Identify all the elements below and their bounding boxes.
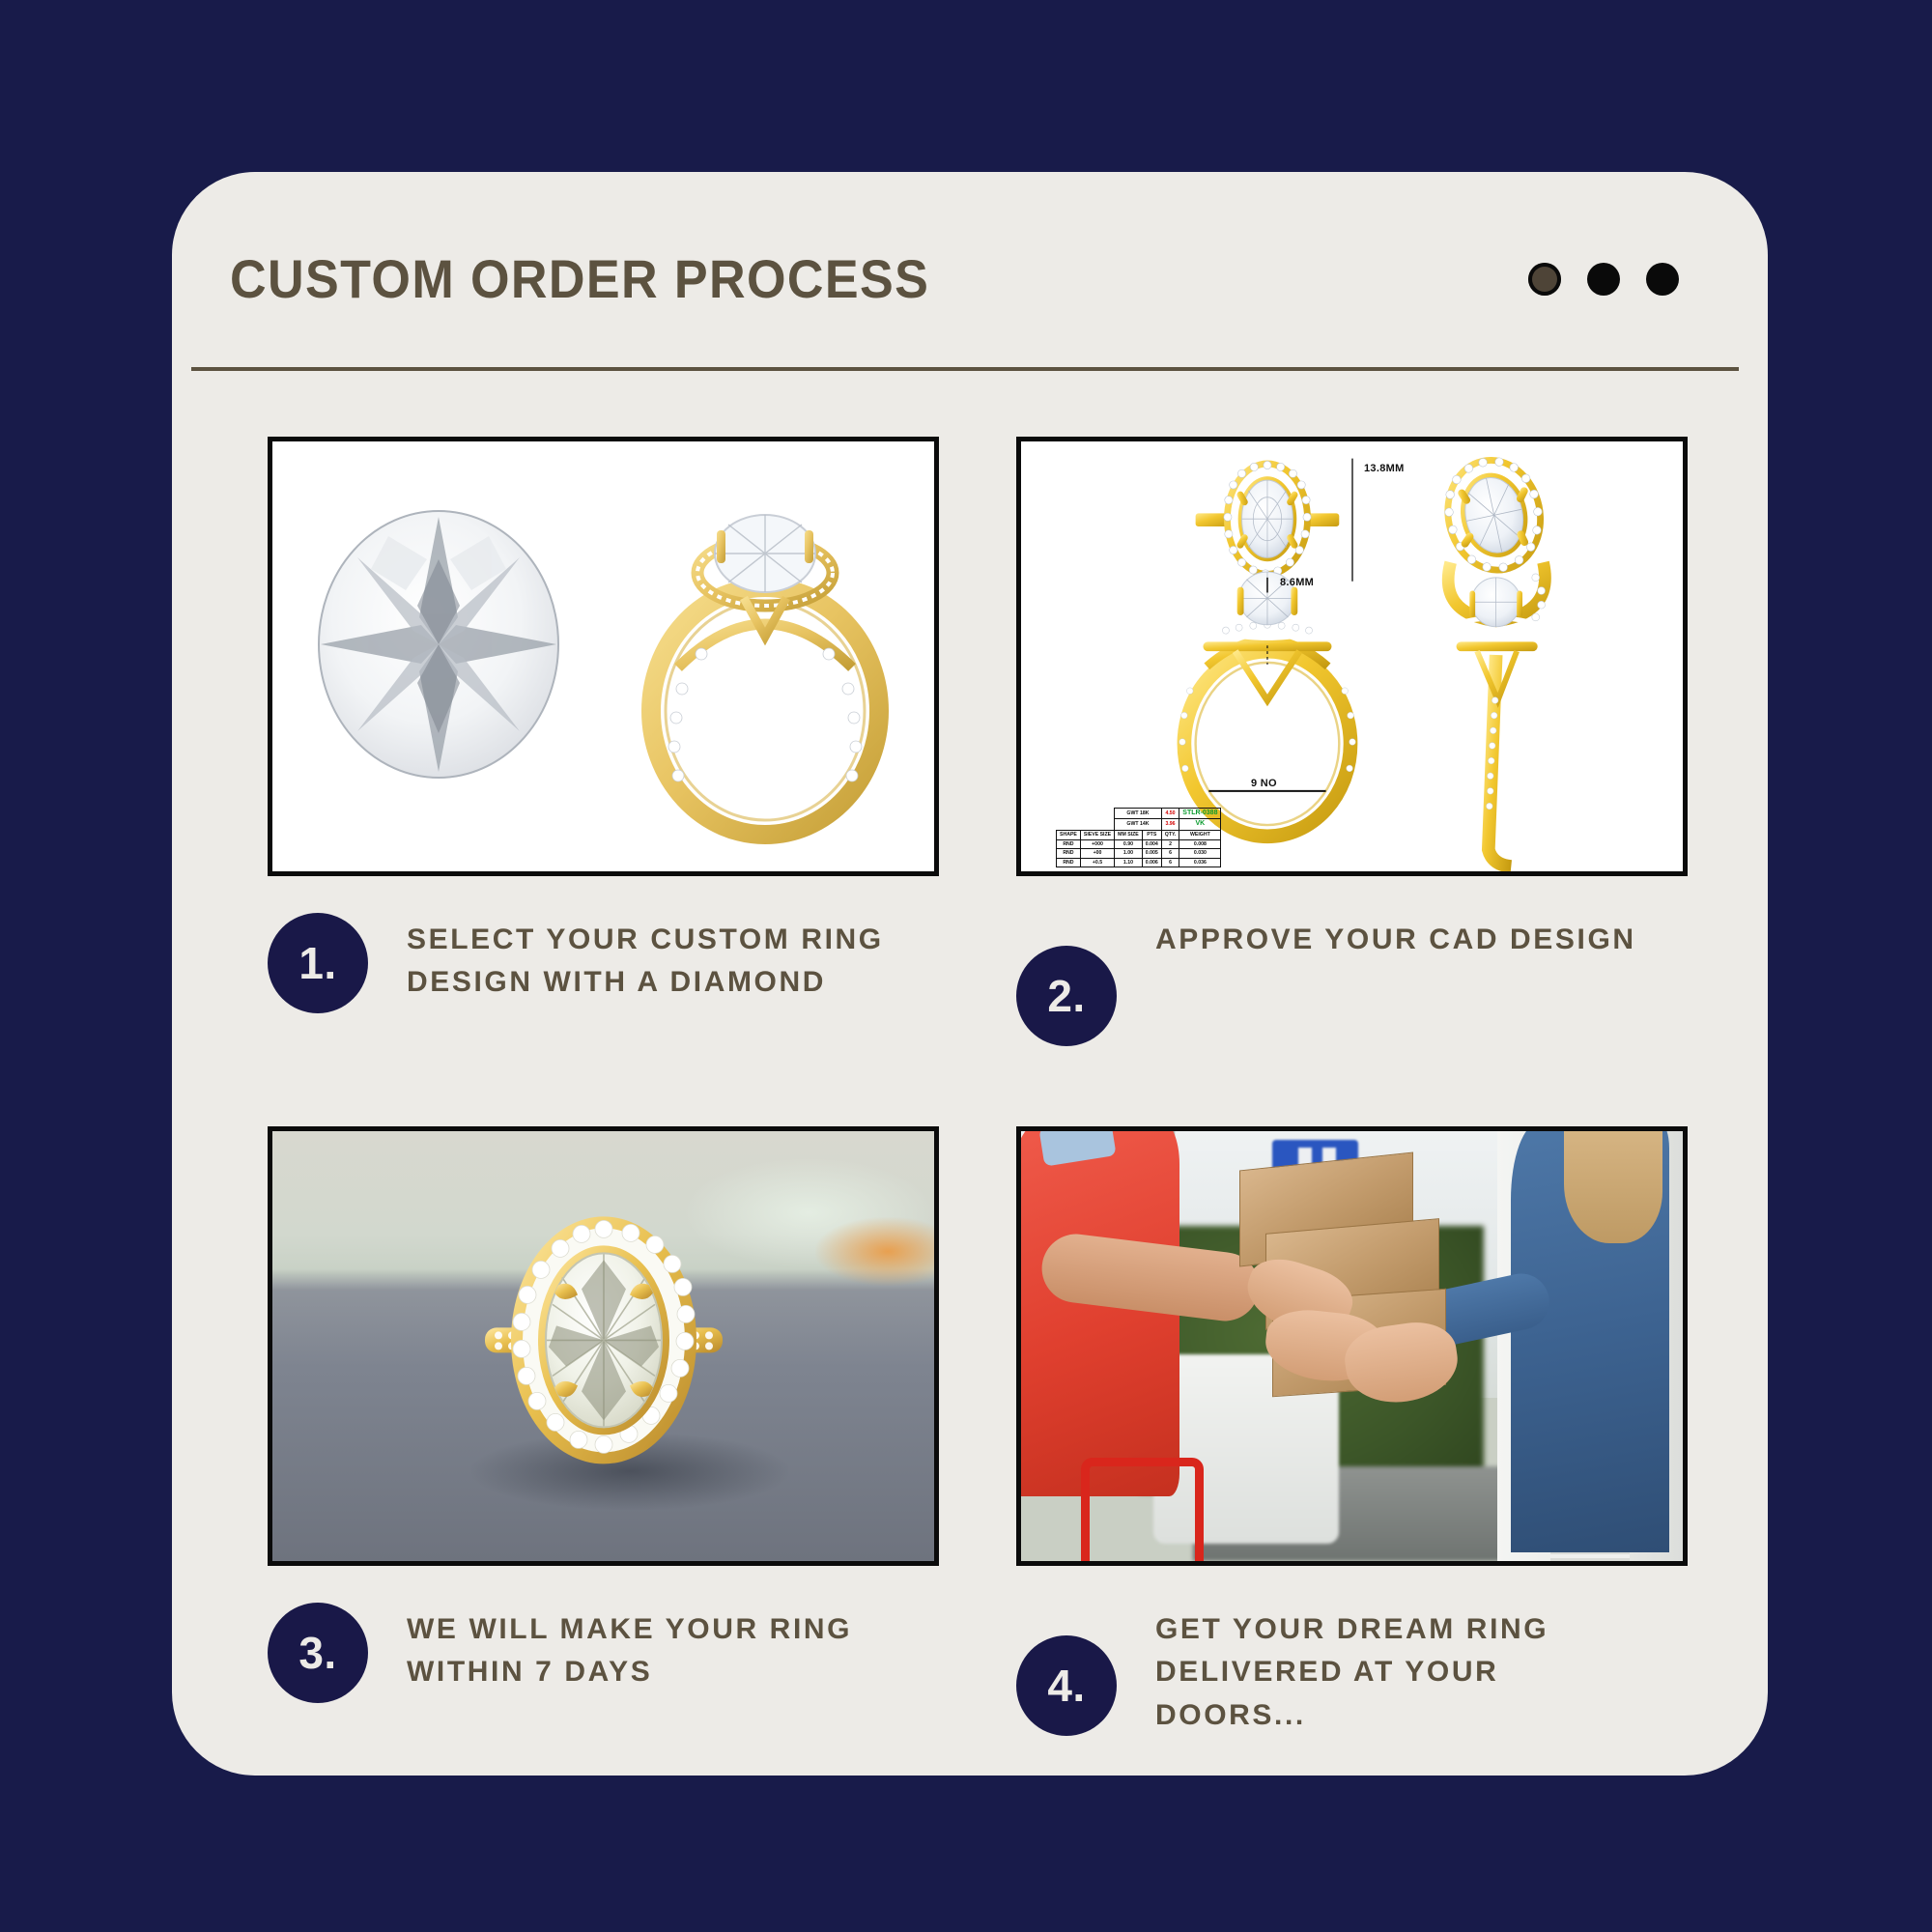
steps-grid: 1. SELECT YOUR CUSTOM RING DESIGN WITH A…	[268, 437, 1688, 1737]
courier-person	[1021, 1131, 1179, 1496]
cad-ring-size-label: 9 NO	[1251, 778, 1277, 789]
step-4-caption: 4. GET YOUR DREAM RING DELIVERED AT YOUR…	[1016, 1603, 1688, 1737]
step-3-text: WE WILL MAKE YOUR RING WITHIN 7 DAYS	[407, 1603, 939, 1694]
col-qty: QTY.	[1161, 831, 1179, 840]
step-card-1: 1. SELECT YOUR CUSTOM RING DESIGN WITH A…	[268, 437, 939, 1046]
table-row: GWT 14K 3.96 VK	[1057, 819, 1221, 831]
step-4-text: GET YOUR DREAM RING DELIVERED AT YOUR DO…	[1155, 1603, 1658, 1737]
gold-halo-ring-icon	[620, 465, 910, 851]
cell-sieve: +00	[1080, 849, 1114, 859]
gwt-18k-value: 4.50	[1161, 808, 1179, 819]
cad-spec-table: GWT 18K 4.50 STLR-0388 GWT 14K 3.96 VK	[1056, 808, 1221, 868]
cell-pts: 0.005	[1142, 849, 1161, 859]
page-title: CUSTOM ORDER PROCESS	[230, 247, 929, 310]
col-weight: WEIGHT	[1179, 831, 1221, 840]
cell-mm: 1.00	[1115, 849, 1143, 859]
gwt-18k-label: GWT 18K	[1115, 808, 1162, 819]
table-row: RND +000 0.90 0.004 2 0.008	[1057, 839, 1221, 849]
steps-row-bottom: 3. WE WILL MAKE YOUR RING WITHIN 7 DAYS	[268, 1126, 1688, 1737]
window-dot-black-2-icon[interactable]	[1646, 263, 1679, 296]
customer-hair	[1564, 1131, 1663, 1243]
window-dot-black-1-icon[interactable]	[1587, 263, 1620, 296]
cad-dim-height-label: 8.6MM	[1280, 577, 1314, 588]
step-3-number: 3.	[268, 1603, 368, 1703]
step-card-3: 3. WE WILL MAKE YOUR RING WITHIN 7 DAYS	[268, 1126, 939, 1737]
cell-weight: 0.036	[1179, 858, 1221, 867]
cell-qty: 6	[1161, 858, 1179, 867]
gwt-14k-value: 3.96	[1161, 819, 1179, 831]
step-1-number: 1.	[268, 913, 368, 1013]
step-2-caption: 2. APPROVE YOUR CAD DESIGN	[1016, 913, 1688, 1046]
hand-truck	[1081, 1458, 1205, 1561]
cell-shape: RND	[1057, 839, 1081, 849]
steps-row-top: 1. SELECT YOUR CUSTOM RING DESIGN WITH A…	[268, 437, 1688, 1046]
package-delivery-photo-image	[1021, 1131, 1683, 1561]
delivery-scene	[1021, 1131, 1683, 1561]
round-diamond-icon	[313, 501, 564, 781]
process-card: CUSTOM ORDER PROCESS	[172, 172, 1768, 1776]
cell-sieve: +0.5	[1080, 858, 1114, 867]
step-2-text: APPROVE YOUR CAD DESIGN	[1155, 913, 1636, 961]
step-card-4: 4. GET YOUR DREAM RING DELIVERED AT YOUR…	[1016, 1126, 1688, 1737]
step-1-caption: 1. SELECT YOUR CUSTOM RING DESIGN WITH A…	[268, 913, 939, 1013]
table-header-row: SHAPE SIEVE SIZE MM SIZE PTS QTY. WEIGHT	[1057, 831, 1221, 840]
step-1-text: SELECT YOUR CUSTOM RING DESIGN WITH A DI…	[407, 913, 909, 1005]
cad-dim-width-label: 13.8MM	[1364, 463, 1405, 474]
col-sieve-size: SIEVE SIZE	[1080, 831, 1114, 840]
table-row: GWT 18K 4.50 STLR-0388	[1057, 808, 1221, 819]
finished-halo-ring-icon	[473, 1180, 734, 1499]
cell-weight: 0.030	[1179, 849, 1221, 859]
step-2-number: 2.	[1016, 946, 1117, 1046]
cell-qty: 6	[1161, 849, 1179, 859]
col-mm-size: MM SIZE	[1115, 831, 1143, 840]
step-3-caption: 3. WE WILL MAKE YOUR RING WITHIN 7 DAYS	[268, 1603, 939, 1703]
step-4-number: 4.	[1016, 1635, 1117, 1736]
step-4-image-frame	[1016, 1126, 1688, 1566]
cell-pts: 0.004	[1142, 839, 1161, 849]
table-row: RND +00 1.00 0.005 6 0.030	[1057, 849, 1221, 859]
header-divider	[191, 367, 1739, 371]
gwt-14k-label: GWT 14K	[1115, 819, 1162, 831]
col-shape: SHAPE	[1057, 831, 1081, 840]
step-card-2: 13.8MM 8.6MM 9 NO GWT 18K 4.50 STLR-0388	[1016, 437, 1688, 1046]
step-1-image-frame	[268, 437, 939, 876]
table-row: RND +0.5 1.10 0.006 6 0.036	[1057, 858, 1221, 867]
step-3-image-frame	[268, 1126, 939, 1566]
loose-diamond-and-gold-halo-ring-image	[272, 441, 934, 871]
cell-shape: RND	[1057, 858, 1081, 867]
cell-shape: RND	[1057, 849, 1081, 859]
background-warm-glow	[815, 1217, 934, 1286]
step-2-image-frame: 13.8MM 8.6MM 9 NO GWT 18K 4.50 STLR-0388	[1016, 437, 1688, 876]
cell-sieve: +000	[1080, 839, 1114, 849]
cell-weight: 0.008	[1179, 839, 1221, 849]
cad-initials: VK	[1179, 819, 1221, 831]
cell-mm: 0.90	[1115, 839, 1143, 849]
cell-pts: 0.006	[1142, 858, 1161, 867]
finished-ring-photo-image	[272, 1131, 934, 1561]
window-dots	[1528, 263, 1679, 296]
card-header: CUSTOM ORDER PROCESS	[230, 211, 1710, 365]
cell-qty: 2	[1161, 839, 1179, 849]
col-pts: PTS	[1142, 831, 1161, 840]
cad-technical-drawing-image: 13.8MM 8.6MM 9 NO GWT 18K 4.50 STLR-0388	[1021, 441, 1683, 871]
cad-sku: STLR-0388	[1179, 808, 1221, 819]
cell-mm: 1.10	[1115, 858, 1143, 867]
poster-canvas: CUSTOM ORDER PROCESS	[0, 0, 1932, 1932]
window-dot-brown-icon[interactable]	[1528, 263, 1561, 296]
